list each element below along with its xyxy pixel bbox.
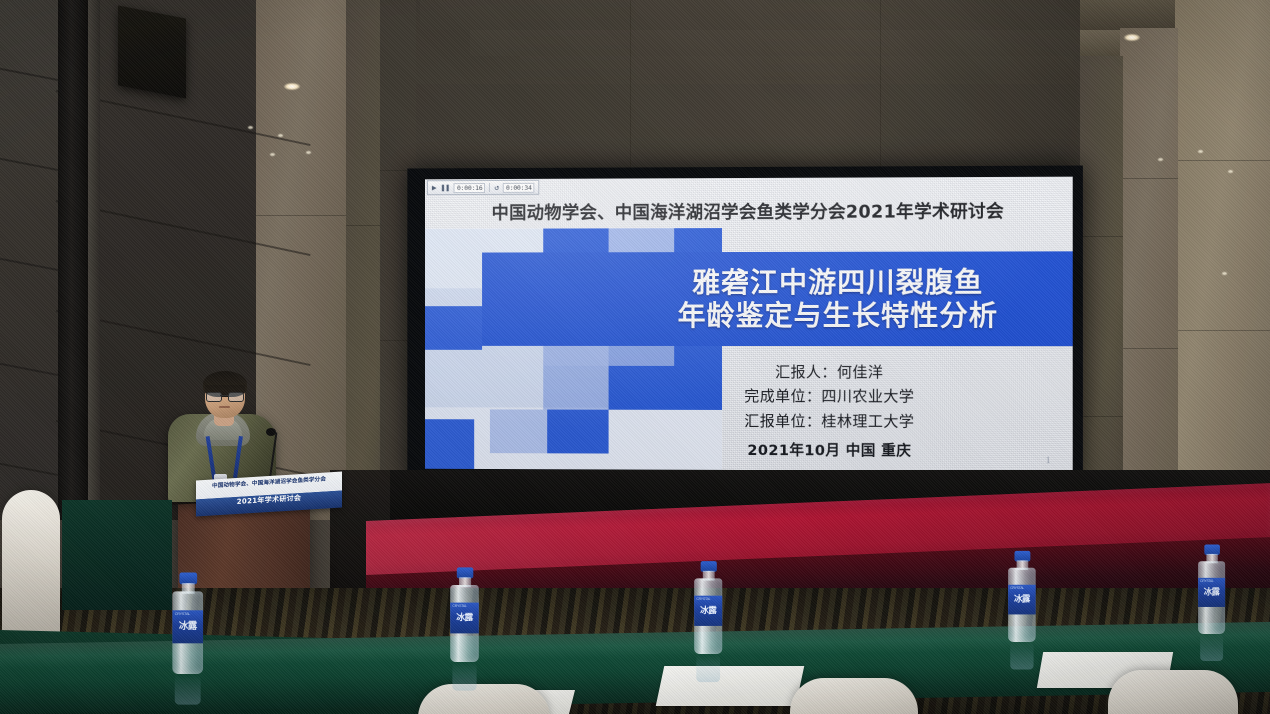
- bottle-sub-text: CRYSTAL: [1200, 579, 1214, 583]
- paper-sheet-1: [656, 666, 805, 706]
- credit-reporting-unit: 汇报单位：桂林理工大学: [615, 408, 1047, 433]
- water-bottle: CRYSTAL 冰露: [1196, 545, 1227, 634]
- bottle-reflection: [696, 654, 720, 682]
- conference-photo-scene: 中国动物学会、中国海洋湖沼学会鱼类学分会2021年学术研讨会 雅砻江中游四川裂腹…: [0, 0, 1270, 714]
- bottle-label: CRYSTAL 冰露: [1198, 578, 1225, 607]
- ceiling-downlight-2: [1124, 34, 1140, 41]
- bottle-reflection: [452, 662, 476, 691]
- wall-highlight-6: [1198, 150, 1203, 153]
- water-bottle: CRYSTAL 冰露: [170, 573, 205, 674]
- bottle-reflection: [175, 674, 201, 705]
- slide-page-number: 1: [1046, 455, 1051, 465]
- water-bottle: CRYSTAL 冰露: [1006, 551, 1038, 642]
- wall-highlight-2: [278, 134, 283, 137]
- credit-affiliation: 完成单位：四川农业大学: [615, 384, 1047, 409]
- bottle-sub-text: CRYSTAL: [696, 597, 710, 601]
- animation-playback-toolbar[interactable]: ▶ ❚❚ 0:00:16 ↺ 0:00:34: [427, 180, 540, 195]
- slide-title-line-2: 年龄鉴定与生长特性分析: [678, 299, 998, 332]
- bottle-reflection: [1010, 642, 1033, 670]
- podium-banner-line-2: 2021年学术研讨会: [196, 491, 342, 510]
- speaker-mouth: [219, 406, 230, 408]
- bottle-brand-text: 冰露: [694, 604, 722, 616]
- play-icon[interactable]: ▶: [432, 184, 437, 192]
- slide-main-title: 雅砻江中游四川裂腹鱼 年龄鉴定与生长特性分析: [622, 255, 1054, 342]
- wall-highlight-7: [1228, 170, 1233, 173]
- slide-header-text: 中国动物学会、中国海洋湖沼学会鱼类学分会2021年学术研讨会: [425, 193, 1073, 229]
- credit-presenter: 汇报人：何佳洋: [615, 360, 1047, 385]
- bottle-reflection: [1200, 634, 1223, 661]
- banquet-chair-left: [2, 490, 60, 638]
- speaker-glasses: [206, 392, 244, 400]
- bottle-brand-text: 冰露: [172, 620, 203, 633]
- led-screen[interactable]: 中国动物学会、中国海洋湖沼学会鱼类学分会2021年学术研讨会 雅砻江中游四川裂腹…: [407, 166, 1083, 489]
- slide-credits-block: 汇报人：何佳洋 完成单位：四川农业大学 汇报单位：桂林理工大学 2021年10月…: [615, 360, 1047, 465]
- banquet-chair-front-3: [1108, 670, 1238, 714]
- rewind-icon[interactable]: ↺: [494, 183, 499, 191]
- water-bottle: CRYSTAL 冰露: [448, 567, 481, 662]
- wall-highlight-3: [270, 153, 275, 156]
- bottle-brand-text: 冰露: [450, 611, 479, 623]
- banquet-chair-front-2: [790, 678, 918, 714]
- bottle-label: CRYSTAL 冰露: [450, 603, 479, 634]
- ceiling-downlight-1: [284, 83, 300, 90]
- wall-highlight-5: [1158, 158, 1163, 161]
- water-bottle: CRYSTAL 冰露: [692, 561, 724, 654]
- bottle-sub-text: CRYSTAL: [1010, 586, 1024, 590]
- ceiling-loudspeaker: [118, 5, 186, 98]
- total-time: 0:00:34: [503, 182, 535, 192]
- banquet-chair-front-1: [418, 684, 550, 714]
- bottle-brand-text: 冰露: [1008, 593, 1036, 605]
- elapsed-time: 0:00:16: [454, 183, 486, 193]
- bottle-sub-text: CRYSTAL: [175, 611, 190, 616]
- wall-highlight-8: [1222, 272, 1227, 275]
- side-table-green: [62, 500, 172, 610]
- left-black-column: [58, 0, 88, 520]
- bottle-label: CRYSTAL 冰露: [172, 610, 203, 643]
- bottle-sub-text: CRYSTAL: [452, 604, 466, 608]
- bottle-label: CRYSTAL 冰露: [1008, 585, 1036, 615]
- pause-icon[interactable]: ❚❚: [441, 184, 450, 192]
- slide-title-line-1: 雅砻江中游四川裂腹鱼: [692, 266, 983, 299]
- bottle-brand-text: 冰露: [1198, 586, 1225, 597]
- toolbar-divider: [489, 183, 490, 192]
- left-column-trim: [88, 0, 100, 520]
- bottle-label: CRYSTAL 冰露: [694, 596, 722, 626]
- slide-date-location: 2021年10月 中国 重庆: [615, 439, 1047, 464]
- screen-display-area: 中国动物学会、中国海洋湖沼学会鱼类学分会2021年学术研讨会 雅砻江中游四川裂腹…: [425, 177, 1073, 472]
- wall-highlight-1: [248, 126, 253, 129]
- wall-highlight-4: [306, 151, 311, 154]
- presentation-slide: 中国动物学会、中国海洋湖沼学会鱼类学分会2021年学术研讨会 雅砻江中游四川裂腹…: [425, 177, 1073, 472]
